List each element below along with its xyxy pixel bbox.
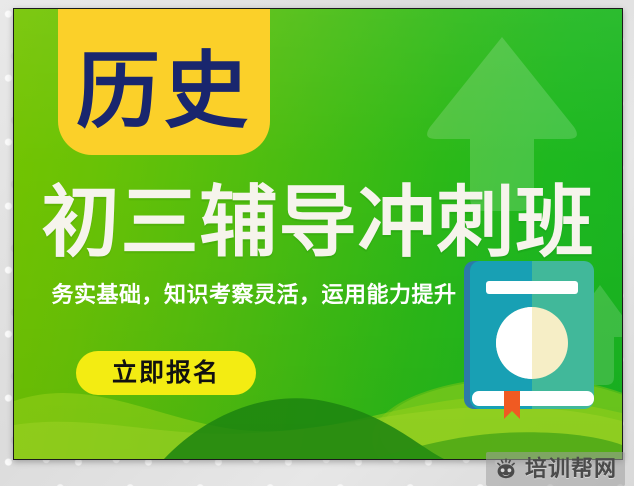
subject-badge-label: 历史: [76, 49, 252, 133]
subject-badge: 历史: [58, 8, 270, 155]
sun-face-icon: [494, 457, 518, 481]
book-icon: [462, 259, 602, 419]
enroll-now-button[interactable]: 立即报名: [76, 351, 256, 395]
headline-text: 初三辅导冲刺班: [23, 183, 613, 261]
enroll-now-button-label: 立即报名: [112, 361, 220, 386]
site-watermark: 培训帮网: [486, 452, 625, 486]
subtitle-text: 务实基础，知识考察灵活，运用能力提升: [29, 284, 479, 306]
course-promo-banner: 历史 初三辅导冲刺班 务实基础，知识考察灵活，运用能力提升 立即报名: [13, 8, 623, 460]
watermark-text: 培训帮网: [525, 458, 617, 480]
